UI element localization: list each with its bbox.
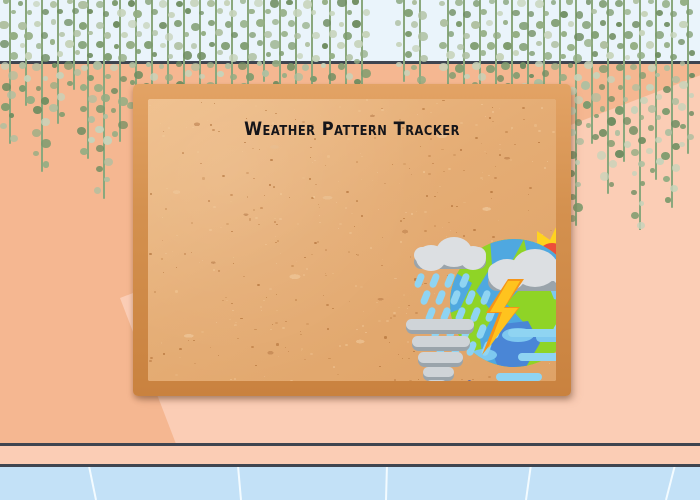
cork-speck <box>328 358 330 360</box>
cork-speck <box>243 276 245 277</box>
cork-speck <box>220 227 222 228</box>
cork-speck <box>381 265 383 266</box>
cork-speck <box>356 200 358 202</box>
cork-speck <box>270 329 272 330</box>
cork-speck <box>163 131 164 132</box>
cork-speck <box>289 197 290 198</box>
cork-speck <box>510 159 512 161</box>
cork-speck <box>266 297 267 298</box>
cork-speck <box>348 251 351 253</box>
cork-speck <box>499 149 501 151</box>
cork-speck <box>426 195 428 197</box>
cork-speck <box>175 374 178 376</box>
cork-speck <box>333 366 335 368</box>
cork-speck <box>175 290 178 292</box>
cork-speck <box>495 166 496 167</box>
cork-speck <box>150 193 152 194</box>
cork-speck <box>306 268 308 269</box>
cork-speck <box>528 194 529 195</box>
cork-speck <box>184 253 186 254</box>
cork-speck <box>482 172 483 173</box>
cork-speck <box>379 366 381 367</box>
cork-speck <box>168 127 170 129</box>
cork-speck <box>237 338 239 339</box>
cork-speck <box>300 331 301 332</box>
cork-speck <box>327 155 330 157</box>
cork-speck <box>259 149 261 150</box>
cork-speck <box>285 347 287 348</box>
cork-speck <box>275 113 277 114</box>
cork-speck <box>448 222 449 223</box>
cork-speck <box>230 201 232 202</box>
cork-speck <box>499 108 500 109</box>
cork-speck <box>312 162 313 163</box>
cork-speck <box>222 175 225 177</box>
cork-speck <box>382 237 383 238</box>
cork-speck <box>230 379 232 380</box>
raindrop <box>428 272 440 289</box>
cork-speck <box>428 155 431 157</box>
cork-speck <box>265 244 266 245</box>
cork-speck <box>291 265 294 267</box>
cork-speck <box>439 186 440 187</box>
cork-speck <box>456 206 458 207</box>
cork-speck <box>276 294 277 295</box>
cork-speck <box>214 103 215 104</box>
cork-speck <box>339 223 341 225</box>
cork-speck <box>163 272 164 273</box>
cork-speck <box>244 142 246 143</box>
cork-speck <box>162 240 163 241</box>
cork-speck <box>278 356 280 357</box>
cork-speck <box>246 172 249 174</box>
cork-speck <box>420 146 421 147</box>
cork-speck <box>303 274 305 276</box>
cork-speck <box>357 254 359 256</box>
cork-speck <box>149 253 151 255</box>
cork-speck <box>356 254 357 255</box>
cork-speck <box>528 210 529 211</box>
cork-speck <box>327 328 329 330</box>
cork-speck <box>349 301 350 302</box>
cork-speck <box>428 173 430 175</box>
cork-speck <box>398 307 400 309</box>
cork-speck <box>202 177 205 179</box>
cork-speck <box>499 154 501 156</box>
cork-speck <box>310 147 311 148</box>
cork-speck <box>384 336 387 338</box>
cork-speck <box>279 218 282 220</box>
cork-speck <box>319 215 320 216</box>
cork-speck <box>165 253 167 255</box>
cork-speck <box>376 302 378 304</box>
cork-speck <box>273 186 275 188</box>
cork-speck <box>514 144 516 145</box>
cork-speck <box>162 135 165 137</box>
floor <box>0 467 700 500</box>
cork-speck <box>310 353 313 355</box>
cork-speck <box>423 171 426 173</box>
cork-speck <box>234 378 236 380</box>
cork-speck <box>434 196 436 197</box>
cork-speck <box>179 348 182 350</box>
cork-speck <box>201 331 204 333</box>
cork-speck <box>233 263 234 264</box>
cork-speck <box>318 204 320 205</box>
cork-speck <box>358 110 361 112</box>
page-title: Weather Pattern Tracker <box>172 119 531 140</box>
cork-speck <box>538 130 541 132</box>
cork-speck <box>290 380 293 381</box>
cork-speck <box>339 345 341 347</box>
cork-speck <box>242 151 244 152</box>
cork-speck <box>276 224 278 225</box>
cork-speck <box>150 357 153 359</box>
cork-speck <box>165 208 168 210</box>
cork-speck <box>437 192 438 193</box>
cork-speck <box>253 178 254 179</box>
floor-line <box>665 467 677 500</box>
cork-speck <box>276 343 279 345</box>
cork-speck <box>154 291 156 293</box>
cork-speck <box>270 159 272 161</box>
cork-speck <box>481 104 483 105</box>
cork-speck <box>149 360 151 362</box>
cork-speck <box>280 253 282 254</box>
cork-speck <box>403 218 405 220</box>
cork-speck <box>378 320 380 322</box>
cork-speck <box>161 258 164 260</box>
cork-speck <box>405 212 406 213</box>
cork-speck <box>193 340 195 342</box>
cork-speck <box>269 288 271 290</box>
cork-speck <box>226 300 227 301</box>
cork-speck <box>484 151 485 152</box>
cork-speck <box>304 359 305 360</box>
cork-speck <box>403 163 405 165</box>
cork-speck <box>269 184 271 185</box>
cork-speck <box>361 156 363 158</box>
cork-speck <box>213 206 215 208</box>
cork-speck <box>416 211 417 212</box>
cork-speck <box>390 317 392 319</box>
cork-speck <box>280 193 283 195</box>
cork-speck <box>361 179 362 180</box>
cork-speck <box>209 229 211 231</box>
cork-speck <box>349 232 352 234</box>
cork-speck <box>314 160 315 161</box>
cork-speck <box>499 144 501 145</box>
cork-speck <box>377 172 378 173</box>
cork-speck <box>356 161 359 163</box>
cork-speck <box>254 329 256 331</box>
cork-speck <box>411 174 412 175</box>
raindrop <box>419 289 431 306</box>
room-scene: Weather Pattern Tracker <box>0 0 700 500</box>
cork-speck <box>398 354 399 355</box>
cork-speck <box>275 322 278 324</box>
cork-speck <box>482 179 483 180</box>
cork-speck <box>218 270 220 272</box>
cork-speck <box>276 263 277 264</box>
cork-speck <box>277 240 280 242</box>
cork-speck <box>295 299 298 301</box>
cork-speck <box>463 170 464 171</box>
cork-speck <box>301 350 302 351</box>
cork-speck <box>172 251 173 252</box>
cork-speck <box>222 300 224 301</box>
cork-speck <box>394 379 397 381</box>
cork-speck <box>393 312 396 314</box>
cork-speck <box>436 103 438 105</box>
cork-speck <box>240 318 242 320</box>
ceiling <box>0 0 700 64</box>
cork-speck <box>191 252 192 253</box>
cork-speck <box>351 213 353 215</box>
cork-speck <box>326 304 329 306</box>
cork-speck <box>276 310 278 311</box>
cork-speck <box>338 228 340 229</box>
cork-speck <box>538 142 539 143</box>
cork-speck <box>229 319 231 320</box>
cork-speck <box>453 154 456 156</box>
cork-speck <box>176 235 178 236</box>
cork-speck <box>378 209 379 210</box>
cork-speck <box>149 105 151 106</box>
cork-speck <box>213 269 215 271</box>
cork-speck <box>253 209 255 210</box>
corkboard-frame-inner: Weather Pattern Tracker <box>148 99 556 381</box>
cork-speck <box>552 131 555 133</box>
cork-speck <box>354 226 355 227</box>
cork-speck <box>285 321 287 322</box>
cork-speck <box>201 102 202 103</box>
cork-speck <box>400 241 402 242</box>
cork-speck <box>547 161 549 162</box>
cork-speck <box>409 168 410 169</box>
cork-speck <box>365 332 366 333</box>
cork-speck <box>247 196 249 197</box>
cork-speck <box>162 217 163 218</box>
cork-speck <box>366 99 368 101</box>
cork-speck <box>251 346 254 348</box>
cork-speck <box>460 149 462 151</box>
cork-speck <box>544 167 546 169</box>
cork-speck <box>197 151 199 153</box>
cork-speck <box>225 297 227 299</box>
floor-line <box>385 467 388 500</box>
cork-speck <box>463 202 465 204</box>
cork-speck <box>319 222 321 223</box>
cork-speck <box>323 295 324 296</box>
cork-speck <box>442 100 444 102</box>
cork-speck <box>274 218 276 220</box>
cork-speck <box>302 177 305 179</box>
cork-speck <box>339 106 342 108</box>
cork-speck <box>263 300 265 301</box>
cork-speck <box>210 347 211 348</box>
cork-speck <box>275 242 277 244</box>
wall-top-edge <box>0 61 700 64</box>
cork-speck <box>441 149 443 151</box>
baseboard <box>0 443 700 467</box>
cork-speck <box>233 257 234 258</box>
cork-speck <box>258 224 260 226</box>
cork-speck <box>314 242 317 244</box>
cork-speck <box>231 303 232 304</box>
cork-speck <box>532 161 533 162</box>
cork-speck <box>336 202 337 203</box>
cork-speck <box>306 323 308 325</box>
cork-speck <box>360 286 363 288</box>
cork-speck <box>235 322 237 323</box>
cork-speck <box>541 107 543 109</box>
cork-speck <box>274 221 276 223</box>
cork-speck <box>400 220 403 222</box>
cork-speck <box>315 184 317 185</box>
cork-speck <box>488 175 490 176</box>
cork-speck <box>282 327 284 329</box>
cork-speck <box>309 178 311 180</box>
cork-speck <box>486 153 487 154</box>
cork-speck <box>200 163 202 164</box>
cork-speck <box>231 231 233 233</box>
cork-speck <box>260 207 262 209</box>
lightning-bolt-icon <box>482 279 524 355</box>
cork-speck <box>310 157 311 158</box>
cork-speck <box>411 213 414 215</box>
floor-line <box>525 467 533 500</box>
cork-speck <box>393 315 396 317</box>
cork-speck <box>255 105 258 107</box>
cork-speck <box>430 112 432 113</box>
raindrop <box>413 272 425 289</box>
cork-speck <box>362 325 364 326</box>
cork-speck <box>337 374 339 375</box>
cork-speck <box>529 187 532 189</box>
cork-speck <box>296 261 297 262</box>
cork-speck <box>389 342 390 343</box>
cork-speck <box>257 284 260 286</box>
cork-speck <box>294 109 295 110</box>
cork-speck <box>311 254 312 255</box>
cork-speck <box>394 278 396 280</box>
cork-speck <box>498 220 499 221</box>
cork-speck <box>363 311 364 312</box>
cork-speck <box>384 183 386 184</box>
cork-speck <box>361 215 363 216</box>
cork-speck <box>160 123 161 124</box>
weather-illustration <box>406 225 556 381</box>
floor-line <box>87 467 97 500</box>
cork-speck <box>216 322 217 323</box>
cork-speck <box>360 153 361 154</box>
cork-speck <box>288 351 289 352</box>
cork-speck <box>191 222 194 224</box>
cork-speck <box>272 324 274 325</box>
cork-speck <box>345 344 348 346</box>
cork-speck <box>319 207 320 208</box>
cork-speck <box>230 194 233 196</box>
cork-speck <box>403 294 405 296</box>
cork-speck <box>163 353 165 354</box>
cork-speck <box>534 124 537 126</box>
cork-speck <box>346 191 349 193</box>
corkboard[interactable]: Weather Pattern Tracker <box>133 84 571 396</box>
cork-speck <box>522 107 525 109</box>
cork-speck <box>355 285 357 287</box>
cork-speck <box>443 171 445 172</box>
cork-speck <box>317 241 319 242</box>
cork-speck <box>448 168 451 170</box>
cork-speck <box>232 310 234 312</box>
rain-cloud-icon <box>412 237 488 271</box>
cork-speck <box>424 211 427 213</box>
cork-speck <box>490 191 493 193</box>
cork-speck <box>264 195 265 196</box>
cork-speck <box>338 181 339 182</box>
cork-speck <box>252 148 253 149</box>
floor-line <box>236 467 241 500</box>
cork-speck <box>304 257 305 258</box>
cork-speck <box>325 273 326 274</box>
cork-speck <box>370 247 372 249</box>
cork-speck <box>179 357 181 358</box>
cork-speck <box>261 310 263 311</box>
cork-speck <box>356 329 358 331</box>
cork-speck <box>264 376 265 377</box>
cork-speck <box>402 358 403 359</box>
cork-speck <box>382 259 383 260</box>
cork-speck <box>494 177 497 179</box>
cork-speck <box>492 111 495 113</box>
cork-speck <box>300 334 301 335</box>
cork-speck <box>372 180 373 181</box>
cork-speck <box>194 363 196 364</box>
cork-speck <box>432 163 434 164</box>
cork-speck <box>381 109 384 111</box>
cork-speck <box>332 308 334 310</box>
cork-speck <box>297 223 299 225</box>
cork-speck <box>188 340 189 341</box>
cork-speck <box>325 275 327 277</box>
cork-speck <box>492 107 493 108</box>
cork-speck <box>325 249 328 251</box>
cork-speck <box>386 320 388 322</box>
cork-speck <box>422 108 425 110</box>
cork-speck <box>485 116 486 117</box>
cork-speck <box>208 200 210 202</box>
cork-speck <box>399 183 400 184</box>
cork-speck <box>234 325 235 326</box>
cork-speck <box>392 164 393 165</box>
cork-speck <box>417 114 419 115</box>
cork-speck <box>451 205 454 207</box>
cork-speck <box>249 218 252 220</box>
cork-speck <box>481 143 482 144</box>
cork-speck <box>345 207 347 209</box>
cork-speck <box>199 262 200 263</box>
raindrop <box>434 289 446 306</box>
cork-speck <box>226 223 229 225</box>
cork-speck <box>320 115 321 116</box>
cork-speck <box>202 260 204 261</box>
cork-speck <box>176 267 177 268</box>
cork-speck <box>166 188 167 189</box>
cork-speck <box>332 273 333 274</box>
cork-speck <box>491 198 493 199</box>
tornado-icon <box>406 317 478 381</box>
